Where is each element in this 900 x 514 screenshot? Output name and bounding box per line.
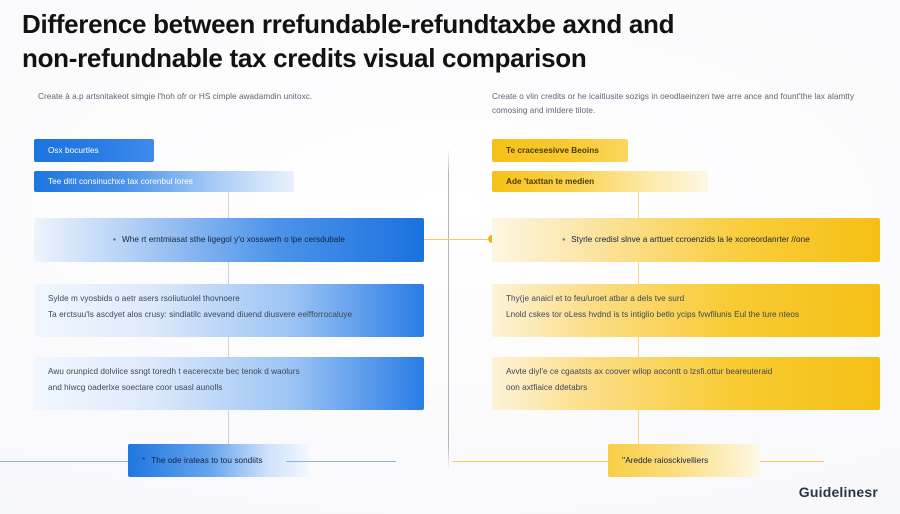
left-footer-pill[interactable]: * The ode irateas to tou sondiits	[128, 444, 308, 477]
left-stem-2	[228, 262, 229, 284]
right-footer-label: ''Aredde raiosckivelliers	[622, 453, 708, 469]
left-subheader-bar[interactable]: Tee ditit consinuchxe tax corenbul lores	[34, 171, 294, 192]
page-title-line-1: Difference between rrefundable-refundtax…	[22, 9, 674, 39]
page-title: Difference between rrefundable-refundtax…	[22, 8, 742, 76]
left-header-pill-label: Osx bocurtles	[48, 143, 99, 159]
left-feature-label: Whe rt erntmiasat sthe ligegol y'o xossw…	[122, 232, 345, 248]
left-header-pill[interactable]: Osx bocurtles	[34, 139, 154, 162]
left-summary-bar[interactable]: Awu orunpicd dolviice ssngt toredh t eac…	[34, 357, 424, 410]
right-summary-label: Avvte diyl'e ce cgaatsts ax coover wilop…	[506, 364, 772, 395]
right-header-pill-label: Te cracesesivve Beoins	[506, 143, 599, 159]
page-header: Difference between rrefundable-refundtax…	[22, 8, 882, 76]
right-subheader-label: Ade 'taxttan te medien	[506, 174, 594, 190]
right-subheader-bar[interactable]: Ade 'taxttan te medien	[492, 171, 708, 192]
left-detail-label: Sylde m vyosbids o aetr asers rsoliutuol…	[48, 291, 352, 322]
right-leader-inner	[760, 461, 824, 462]
left-stem-4	[228, 410, 229, 448]
watermark-logo: Guidelinesr	[799, 484, 878, 500]
right-stem-2	[638, 262, 639, 284]
right-stem-4	[638, 410, 639, 448]
right-leader-outer	[452, 461, 608, 462]
page-title-line-2: non-refundnable tax credits visual compa…	[22, 42, 742, 76]
caption-right: Create o vlin credits or he icaitlusite …	[492, 90, 864, 118]
left-feature-bullet-icon: ▪	[113, 232, 116, 248]
caption-left: Create à a.p artsnitakeot simgie l'hoh o…	[38, 90, 438, 104]
left-footer-bullet-icon: *	[142, 453, 145, 469]
left-footer-label: The ode irateas to tou sondiits	[151, 453, 262, 469]
right-summary-bar[interactable]: Avvte diyl'e ce cgaatsts ax coover wilop…	[492, 357, 880, 410]
right-feature-label: Styrle credisl slnve a arttuet ccroenzid…	[571, 232, 810, 248]
right-feature-bullet-icon: ▪	[562, 232, 565, 248]
right-feature-bar[interactable]: ▪ Styrle credisl slnve a arttuet ccroenz…	[492, 218, 880, 262]
left-detail-bar[interactable]: Sylde m vyosbids o aetr asers rsoliutuol…	[34, 284, 424, 337]
center-divider	[448, 148, 449, 470]
right-stem-3	[638, 337, 639, 357]
right-detail-label: Thy(je anaicl et to feu/uroet atbar a de…	[506, 291, 799, 322]
left-stem-3	[228, 337, 229, 357]
left-summary-label: Awu orunpicd dolviice ssngt toredh t eac…	[48, 364, 300, 395]
left-leader-outer	[0, 461, 128, 462]
left-stem-1	[228, 192, 229, 220]
left-leader-inner	[286, 461, 396, 462]
right-stem-1	[638, 192, 639, 220]
right-header-pill[interactable]: Te cracesesivve Beoins	[492, 139, 628, 162]
infographic-canvas: Difference between rrefundable-refundtax…	[0, 0, 900, 514]
right-detail-bar[interactable]: Thy(je anaicl et to feu/uroet atbar a de…	[492, 284, 880, 337]
left-subheader-label: Tee ditit consinuchxe tax corenbul lores	[48, 174, 193, 190]
left-feature-bar[interactable]: ▪ Whe rt erntmiasat sthe ligegol y'o xos…	[34, 218, 424, 262]
right-footer-pill[interactable]: ''Aredde raiosckivelliers	[608, 444, 760, 477]
